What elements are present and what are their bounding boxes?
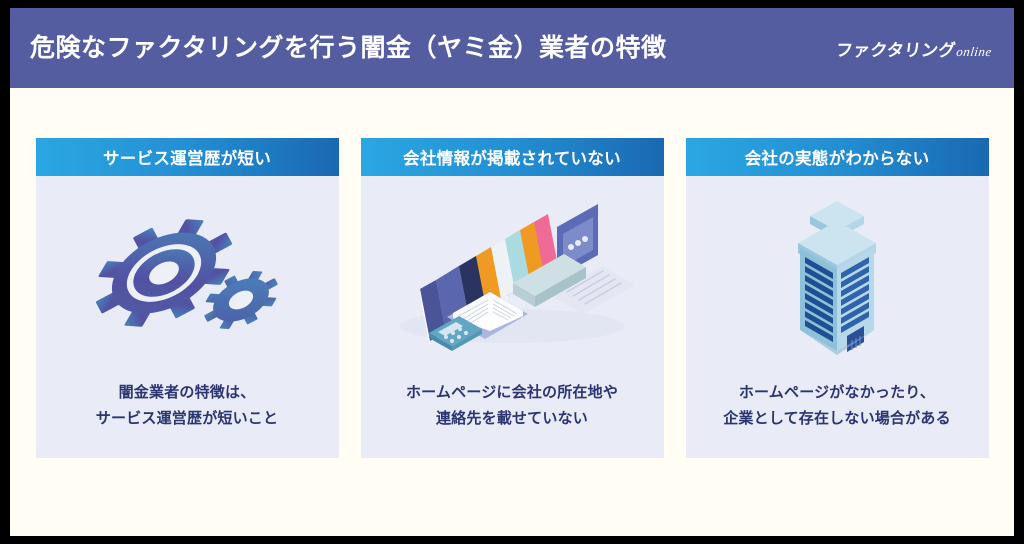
card-body-text-service-history: 闇金業者の特徴は、 サービス運営歴が短いこと [36, 380, 339, 459]
card-body-line: 連絡先を載せていない [371, 406, 654, 432]
gears-icon [92, 203, 282, 353]
infographic-page: 危険なファクタリングを行う闇金（ヤミ金）業者の特徴 ファクタリング online… [10, 8, 1014, 536]
card-header-company-info: 会社情報が掲載されていない [361, 138, 664, 176]
page-title: 危険なファクタリングを行う闇金（ヤミ金）業者の特徴 [30, 36, 667, 61]
card-service-history: サービス運営歴が短い [36, 138, 339, 458]
office-building-icon [752, 195, 922, 360]
card-body-line: ホームページがなかったり、 [696, 380, 979, 406]
card-body-text-company-info: ホームページに会社の所在地や 連絡先を載せていない [361, 380, 664, 459]
card-list: サービス運営歴が短い [10, 88, 1014, 536]
infographic-canvas: 危険なファクタリングを行う闇金（ヤミ金）業者の特徴 ファクタリング online… [0, 0, 1024, 544]
card-header-label: 会社の実態がわからない [745, 145, 930, 169]
brand-logo: ファクタリング online [834, 36, 993, 61]
card-illustration-company-substance [686, 176, 989, 380]
card-company-substance: 会社の実態がわからない [686, 138, 989, 458]
card-body-line: 闇金業者の特徴は、 [46, 380, 329, 406]
card-illustration-service-history [36, 176, 339, 380]
card-body-line: サービス運営歴が短いこと [46, 406, 329, 432]
header-bar: 危険なファクタリングを行う闇金（ヤミ金）業者の特徴 ファクタリング online [10, 8, 1014, 88]
card-body-text-company-substance: ホームページがなかったり、 企業として存在しない場合がある [686, 380, 989, 459]
brand-logo-sub: online [955, 44, 992, 60]
card-body-line: ホームページに会社の所在地や [371, 380, 654, 406]
card-company-info: 会社情報が掲載されていない [361, 138, 664, 458]
card-header-service-history: サービス運営歴が短い [36, 138, 339, 176]
card-header-label: サービス運営歴が短い [103, 145, 271, 169]
books-laptop-icon [387, 200, 637, 355]
card-body-line: 企業として存在しない場合がある [696, 406, 979, 432]
card-header-company-substance: 会社の実態がわからない [686, 138, 989, 176]
brand-logo-main: ファクタリング [834, 36, 957, 61]
card-illustration-company-info [361, 176, 664, 380]
card-header-label: 会社情報が掲載されていない [403, 145, 621, 169]
